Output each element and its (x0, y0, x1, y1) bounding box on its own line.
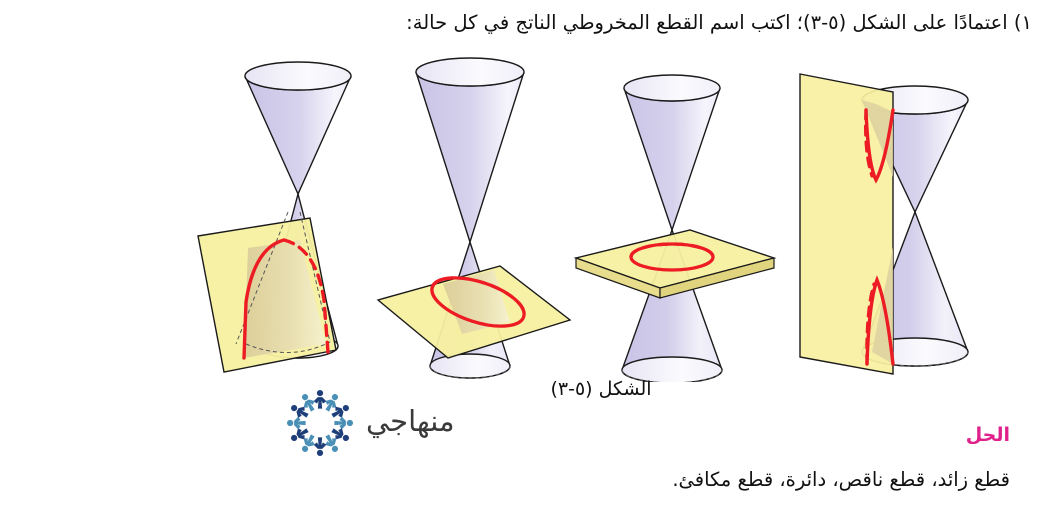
question-heading: ١) اعتمادًا على الشكل (٥-٣)؛ اكتب اسم ال… (120, 8, 1032, 37)
conic-sections-figure (0, 52, 1046, 382)
conic-panel-parabola (198, 62, 351, 372)
cone-top-ellipse (245, 62, 351, 90)
figure-caption-text: الشكل (٥-٣) (550, 378, 651, 400)
conic-panel-hyperbola (800, 74, 968, 374)
solution-answer: قطع زائد، قطع ناقص، دائرة، قطع مكافئ. (520, 468, 1010, 491)
manhaji-logo: منهاجي (284, 386, 500, 460)
cone-upper-nappe (624, 88, 720, 230)
solution-label: الحل (966, 424, 1010, 446)
conic-panel-circle (576, 75, 774, 382)
cone-upper-nappe (245, 76, 351, 194)
manhaji-wordmark: منهاجي (366, 407, 455, 440)
conic-panel-ellipse (378, 58, 570, 378)
cone-top-ellipse (624, 75, 720, 101)
manhaji-people-ring-icon (284, 387, 356, 459)
cutting-plane-horizontal (576, 230, 774, 288)
figure-caption: الشكل (٥-٣) (0, 378, 1046, 400)
cone-top-ellipse (416, 58, 524, 86)
cone-upper-nappe (416, 72, 524, 242)
